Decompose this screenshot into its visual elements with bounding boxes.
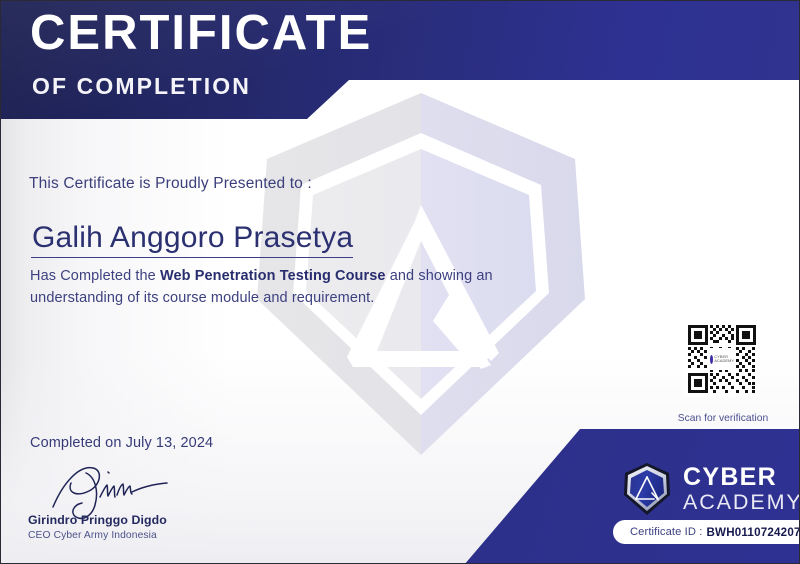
certificate-page: CERTIFICATE OF COMPLETION This Certifica… (0, 0, 800, 564)
qr-code[interactable]: CYBER ACADEMY (684, 321, 760, 397)
brand-name-bottom: ACADEMY (683, 492, 800, 514)
qr-center-logo: CYBER ACADEMY (710, 348, 734, 370)
recipient-name-underline (31, 257, 353, 258)
certificate-id-label: Certificate ID : (630, 526, 702, 538)
qr-center-brand: CYBER ACADEMY (714, 355, 734, 363)
brand-name-top: CYBER (683, 465, 800, 490)
certificate-id-badge: Certificate ID : BWH01107242077 (613, 520, 800, 544)
completion-date: Completed on July 13, 2024 (30, 435, 213, 451)
cyber-academy-shield-icon (619, 461, 675, 517)
page-title: CERTIFICATE (30, 9, 372, 58)
brand-wordmark: CYBER ACADEMY (683, 465, 800, 514)
qr-center-brand-bottom: ACADEMY (714, 359, 734, 363)
description-prefix: Has Completed the (30, 268, 160, 284)
signer-role: CEO Cyber Army Indonesia (28, 530, 157, 541)
recipient-name: Galih Anggoro Prasetya (32, 221, 353, 255)
brand-logo: CYBER ACADEMY (619, 461, 800, 517)
qr-center-shield-icon (710, 355, 713, 364)
signer-name: Girindro Pringgo Digdo (28, 513, 167, 527)
course-name: Web Penetration Testing Course (160, 268, 386, 284)
certificate-id-value: BWH01107242077 (706, 526, 800, 539)
presented-to-label: This Certificate is Proudly Presented to… (29, 175, 312, 193)
completion-description: Has Completed the Web Penetration Testin… (30, 265, 508, 310)
qr-caption: Scan for verification (675, 413, 771, 424)
page-subtitle: OF COMPLETION (32, 75, 251, 98)
